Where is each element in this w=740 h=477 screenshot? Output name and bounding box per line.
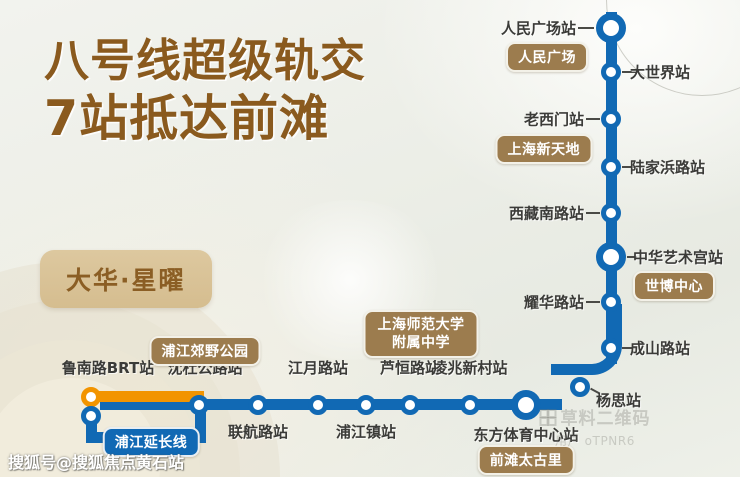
poi-badge-xintiandi: 上海新天地 xyxy=(496,134,593,164)
station-tick xyxy=(586,212,600,214)
poi-badge-expo-center: 世博中心 xyxy=(633,271,715,301)
station-dot-yangsi[interactable] xyxy=(570,377,590,397)
station-label-lujiabang: 陆家浜路站 xyxy=(630,157,705,178)
station-label-lianhang-road: 联航路站 xyxy=(228,421,288,442)
headline: 八号线超级轨交 7站抵达前滩 xyxy=(44,34,464,148)
station-dot-chengshan[interactable] xyxy=(601,338,621,358)
station-tick xyxy=(578,27,594,29)
line-segment-orange xyxy=(86,391,204,402)
station-label-renmin-square: 人民广场站 xyxy=(501,18,576,39)
station-tick xyxy=(586,118,600,120)
poster-canvas: 八号线超级轨交 7站抵达前滩 大华·星曜 人民广场站 人民广场 大世界站 老西门… xyxy=(0,0,740,477)
station-dot-lujiabang[interactable] xyxy=(601,157,621,177)
poi-badge-renmin-square: 人民广场 xyxy=(506,42,588,72)
qr-code-icon xyxy=(540,409,555,424)
station-dot-extension-terminal[interactable] xyxy=(81,406,101,426)
poi-badge-line-1: 上海师范大学 xyxy=(378,316,465,334)
station-dot-china-art-museum[interactable] xyxy=(596,242,626,272)
station-label-lingzhao-village: 凌兆新村站 xyxy=(432,357,507,378)
poi-badge-pujiang-extension: 浦江延长线 xyxy=(103,427,200,457)
station-label-dashijie: 大世界站 xyxy=(630,62,690,83)
station-tick xyxy=(586,301,600,303)
station-dot-laoximen[interactable] xyxy=(601,109,621,129)
station-label-oriental-sports-center: 东方体育中心站 xyxy=(473,424,578,445)
station-label-laoximen: 老西门站 xyxy=(524,109,584,130)
station-label-china-art-museum: 中华艺术宫站 xyxy=(633,247,723,268)
station-dot-jiangyue-road[interactable] xyxy=(308,395,328,415)
station-label-yangsi: 杨思站 xyxy=(596,390,641,411)
project-name-label: 大华·星曜 xyxy=(66,266,186,295)
station-dot-renmin-square[interactable] xyxy=(596,13,626,43)
poi-badge-line-2: 附属中学 xyxy=(378,334,465,352)
poi-badge-shnu-affiliated: 上海师范大学 附属中学 xyxy=(364,310,479,358)
headline-line-1: 八号线超级轨交 xyxy=(44,34,464,88)
station-label-chengshan: 成山路站 xyxy=(630,338,690,359)
station-label-jiangyue-road: 江月路站 xyxy=(288,357,348,378)
station-dot-xizang-south[interactable] xyxy=(601,203,621,223)
station-dot-lingzhao-village[interactable] xyxy=(460,395,480,415)
station-dot-shendu-road[interactable] xyxy=(189,395,209,415)
station-dot-yaohua[interactable] xyxy=(601,292,621,312)
poi-badge-pujiang-country-park: 浦江郊野公园 xyxy=(150,336,261,366)
poi-badge-qiantan-taikoo: 前滩太古里 xyxy=(478,445,575,475)
station-label-xizang-south: 西藏南路站 xyxy=(509,203,584,224)
station-label-luheng-road: 芦恒路站 xyxy=(380,357,440,378)
station-dot-lunan-brt[interactable] xyxy=(81,387,101,407)
station-label-yaohua: 耀华路站 xyxy=(524,292,584,313)
station-label-pujiang-town: 浦江镇站 xyxy=(336,421,396,442)
station-label-lunan-brt: 鲁南路BRT站 xyxy=(62,357,155,378)
project-name-badge: 大华·星曜 xyxy=(40,250,212,308)
station-dot-luheng-road[interactable] xyxy=(400,395,420,415)
headline-line-2: 7站抵达前滩 xyxy=(44,90,464,148)
station-dot-oriental-sports-center[interactable] xyxy=(511,390,541,420)
station-dot-lianhang-road[interactable] xyxy=(248,395,268,415)
station-dot-pujiang-town[interactable] xyxy=(356,395,376,415)
station-dot-dashijie[interactable] xyxy=(601,62,621,82)
